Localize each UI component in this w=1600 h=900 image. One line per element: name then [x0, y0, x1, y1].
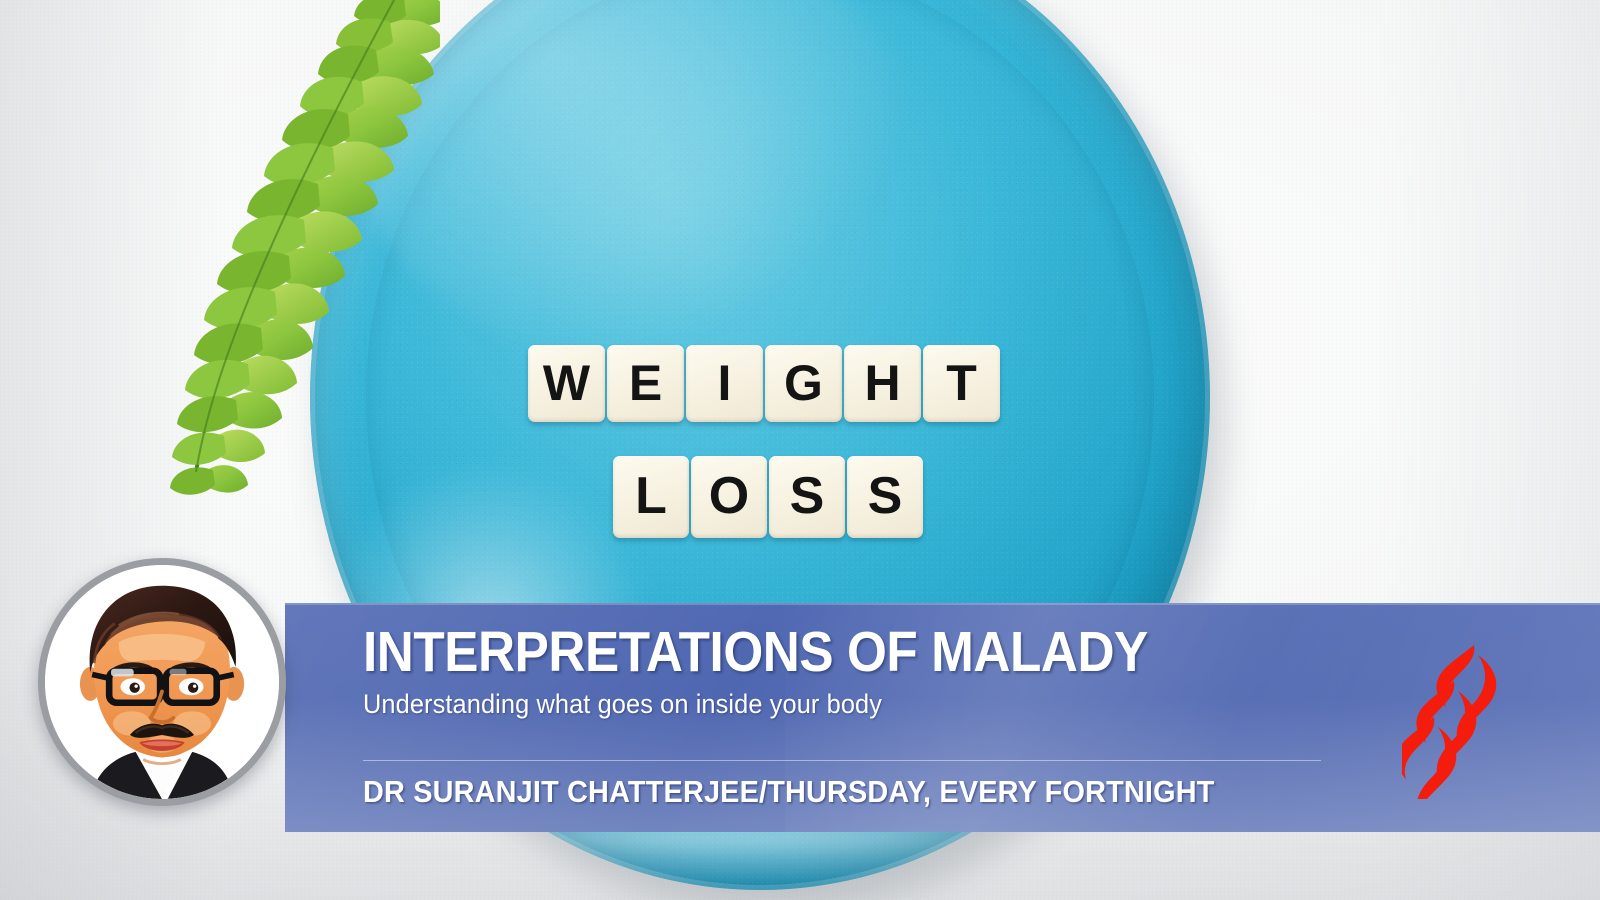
banner-top-rule [285, 603, 1600, 605]
tiles-row-weight: W E I G H T [528, 345, 1000, 422]
series-banner: INTERPRETATIONS OF MALADY Understanding … [285, 603, 1600, 832]
letter-tile: I [686, 345, 763, 422]
letter-tile: S [769, 456, 845, 538]
letter-tile: S [847, 456, 923, 538]
letter-tile: G [765, 345, 842, 422]
author-byline: DR SURANJIT CHATTERJEE/THURSDAY, EVERY F… [363, 775, 1215, 809]
indian-express-logo [1402, 639, 1512, 799]
letter-tile: O [691, 456, 767, 538]
hero-image: W E I G H T L O S S INTERPRETATIONS OF M… [0, 0, 1600, 900]
series-subtitle: Understanding what goes on inside your b… [363, 690, 1303, 720]
letter-tile: L [613, 456, 689, 538]
letter-tile: E [607, 345, 684, 422]
avatar [38, 558, 286, 806]
banner-text-block: INTERPRETATIONS OF MALADY Understanding … [363, 623, 1363, 720]
series-title: INTERPRETATIONS OF MALADY [363, 623, 1263, 681]
banner-divider [363, 760, 1321, 761]
letter-tile: H [844, 345, 921, 422]
letter-tile: W [528, 345, 605, 422]
tiles-row-loss: L O S S [613, 456, 923, 538]
letter-tile: T [923, 345, 1000, 422]
fern-leaf [110, 0, 440, 532]
